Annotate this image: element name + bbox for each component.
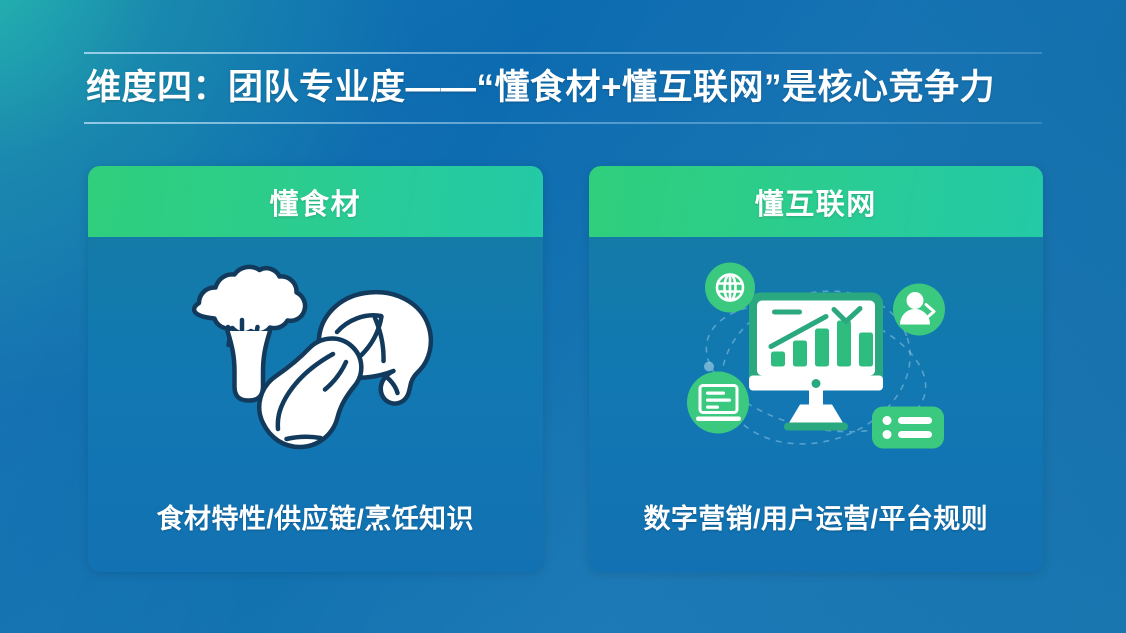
- meat-cut-icon: [259, 339, 361, 447]
- user-icon: [893, 284, 945, 336]
- card-art-internet: [589, 237, 1044, 497]
- card-art-ingredients: [88, 237, 543, 497]
- globe-icon: [705, 263, 755, 313]
- list-icon: [872, 407, 944, 449]
- card-header-title: 懂互联网: [755, 181, 877, 223]
- card-header-title: 懂食材: [269, 181, 361, 223]
- monitor-chart-icon: [749, 293, 883, 431]
- food-icon-group: [165, 258, 465, 476]
- title-block: 维度四：团队专业度——“懂食材+懂互联网”是核心竞争力: [84, 52, 1042, 124]
- card-header-internet: 懂互联网: [589, 166, 1044, 237]
- card-ingredients[interactable]: 懂食材: [88, 166, 543, 572]
- card-caption-internet: 数字营销/用户运营/平台规则: [589, 497, 1044, 572]
- card-header-ingredients: 懂食材: [88, 166, 543, 237]
- orbit-dot: [704, 362, 714, 372]
- card-internet[interactable]: 懂互联网: [589, 166, 1044, 572]
- page-title: 维度四：团队专业度——“懂食材+懂互联网”是核心竞争力: [84, 54, 1042, 122]
- laptop-content-icon: [687, 372, 749, 434]
- card-row: 懂食材: [88, 166, 1043, 572]
- title-rule-bottom: [84, 122, 1042, 124]
- slide-canvas: 维度四：团队专业度——“懂食材+懂互联网”是核心竞争力 懂食材: [0, 0, 1126, 633]
- internet-icon-group: [676, 255, 956, 480]
- card-caption-ingredients: 食材特性/供应链/烹饪知识: [88, 497, 543, 572]
